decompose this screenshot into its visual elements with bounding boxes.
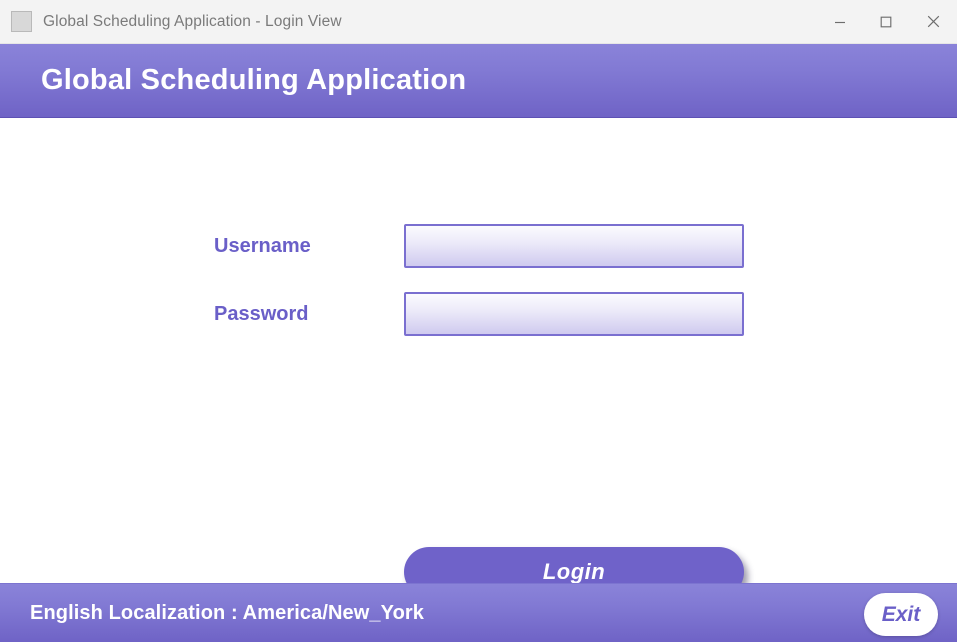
password-row: Password (214, 292, 744, 336)
exit-button[interactable]: Exit (864, 593, 938, 636)
page-title: Global Scheduling Application (41, 66, 466, 95)
minimize-icon (834, 16, 846, 28)
username-row: Username (214, 224, 744, 268)
window-title-text: Global Scheduling Application - Login Vi… (43, 14, 342, 30)
window-title-bar: Global Scheduling Application - Login Vi… (0, 0, 957, 44)
title-bar-left-group: Global Scheduling Application - Login Vi… (0, 11, 817, 32)
close-button[interactable] (909, 0, 957, 44)
maximize-button[interactable] (863, 0, 909, 44)
main-content-area: Username Password Login (0, 118, 957, 583)
minimize-button[interactable] (817, 0, 863, 44)
password-input[interactable] (404, 292, 744, 336)
password-label: Password (214, 304, 404, 324)
maximize-icon (880, 16, 892, 28)
header-banner: Global Scheduling Application (0, 44, 957, 118)
username-input[interactable] (404, 224, 744, 268)
localization-status-text: English Localization : America/New_York (30, 603, 424, 623)
window-controls (817, 0, 957, 44)
close-icon (927, 15, 940, 28)
username-label: Username (214, 236, 404, 256)
application-window: Global Scheduling Application - Login Vi… (0, 0, 957, 642)
footer-bar: English Localization : America/New_York … (0, 583, 957, 642)
app-image-icon (11, 11, 32, 32)
